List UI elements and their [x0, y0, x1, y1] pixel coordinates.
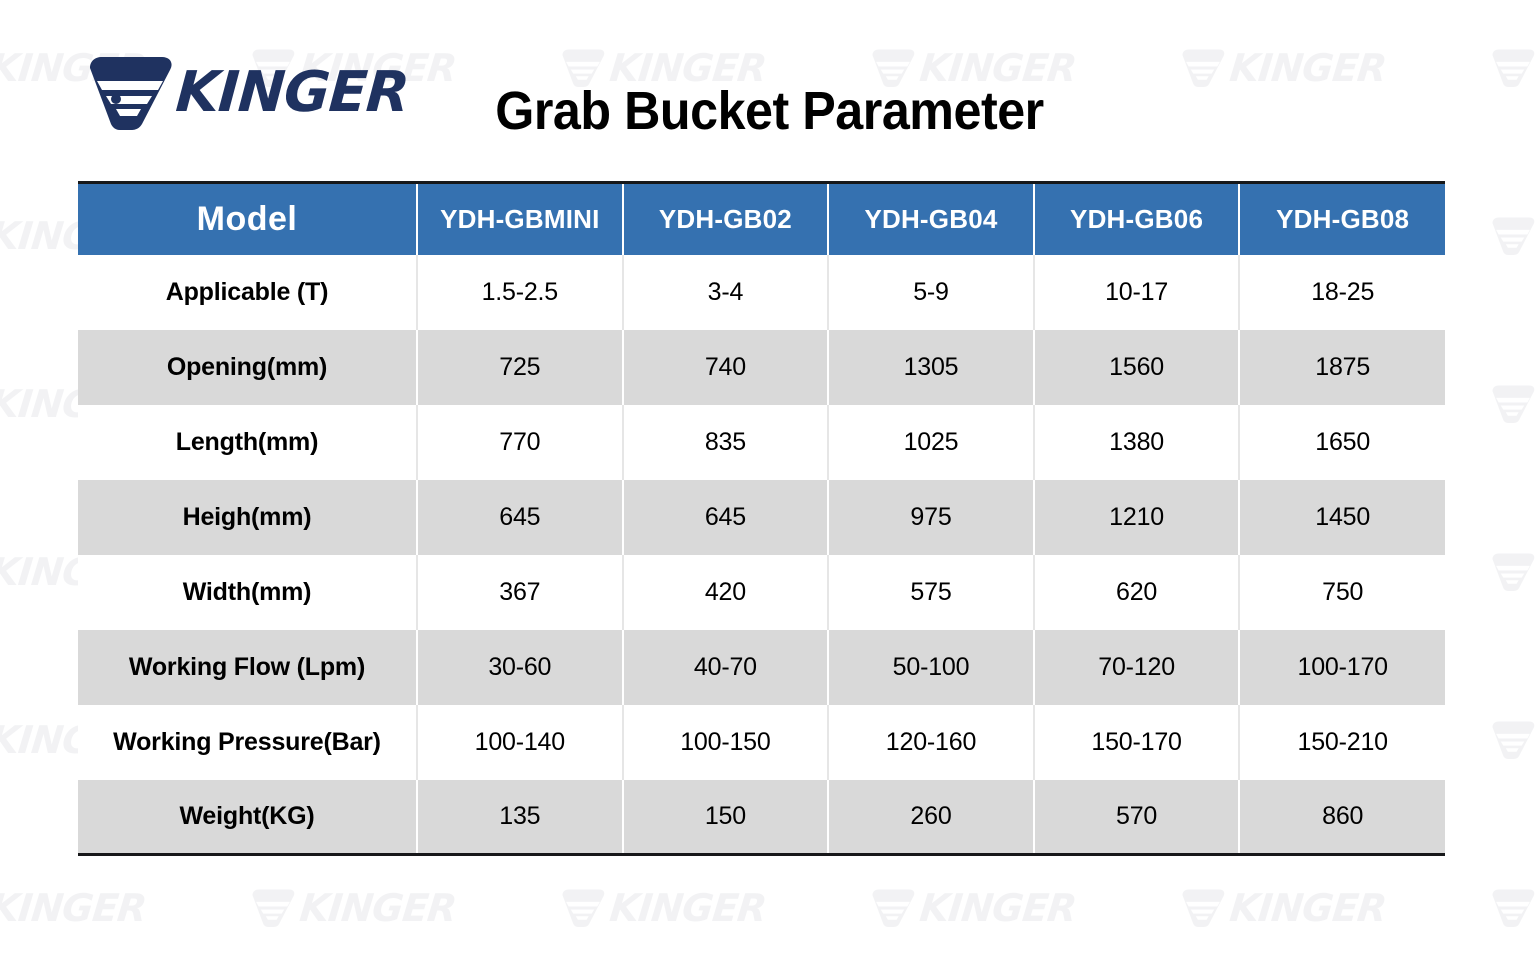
cell-value: 100-150: [623, 705, 829, 780]
cell-value: 835: [623, 405, 829, 480]
table-row: Opening(mm)725740130515601875: [78, 330, 1445, 405]
cell-value: 620: [1034, 555, 1240, 630]
cell-value: 860: [1239, 780, 1445, 855]
table-row: Length(mm)770835102513801650: [78, 405, 1445, 480]
column-header-model-5: YDH-GB08: [1239, 183, 1445, 255]
cell-value: 645: [417, 480, 623, 555]
table-header-row: Model YDH-GBMINI YDH-GB02 YDH-GB04 YDH-G…: [78, 183, 1445, 255]
table-row: Heigh(mm)64564597512101450: [78, 480, 1445, 555]
cell-value: 570: [1034, 780, 1240, 855]
cell-value: 1380: [1034, 405, 1240, 480]
column-header-model-4: YDH-GB06: [1034, 183, 1240, 255]
cell-value: 1450: [1239, 480, 1445, 555]
row-label: Length(mm): [78, 405, 417, 480]
row-label: Heigh(mm): [78, 480, 417, 555]
table-row: Width(mm)367420575620750: [78, 555, 1445, 630]
cell-value: 70-120: [1034, 630, 1240, 705]
cell-value: 575: [828, 555, 1034, 630]
cell-value: 1025: [828, 405, 1034, 480]
cell-value: 5-9: [828, 255, 1034, 330]
cell-value: 135: [417, 780, 623, 855]
table-body: Applicable (T)1.5-2.53-45-910-1718-25Ope…: [78, 255, 1445, 855]
column-header-model-3: YDH-GB04: [828, 183, 1034, 255]
cell-value: 30-60: [417, 630, 623, 705]
row-label: Opening(mm): [78, 330, 417, 405]
cell-value: 100-140: [417, 705, 623, 780]
table-row: Weight(KG)135150260570860: [78, 780, 1445, 855]
cell-value: 975: [828, 480, 1034, 555]
row-label: Working Flow (Lpm): [78, 630, 417, 705]
table-row: Working Flow (Lpm)30-6040-7050-10070-120…: [78, 630, 1445, 705]
row-label: Applicable (T): [78, 255, 417, 330]
page-header: KINGER Grab Bucket Parameter: [0, 0, 1539, 170]
cell-value: 50-100: [828, 630, 1034, 705]
row-label: Width(mm): [78, 555, 417, 630]
table-head: Model YDH-GBMINI YDH-GB02 YDH-GB04 YDH-G…: [78, 183, 1445, 255]
cell-value: 367: [417, 555, 623, 630]
table-row: Working Pressure(Bar)100-140100-150120-1…: [78, 705, 1445, 780]
document-page: KINGER Grab Bucket Parameter Model YDH-G…: [0, 0, 1539, 955]
column-header-model-1: YDH-GBMINI: [417, 183, 623, 255]
cell-value: 150-170: [1034, 705, 1240, 780]
cell-value: 100-170: [1239, 630, 1445, 705]
cell-value: 1560: [1034, 330, 1240, 405]
row-label: Weight(KG): [78, 780, 417, 855]
cell-value: 770: [417, 405, 623, 480]
cell-value: 120-160: [828, 705, 1034, 780]
parameter-table-container: Model YDH-GBMINI YDH-GB02 YDH-GB04 YDH-G…: [78, 181, 1445, 856]
cell-value: 1650: [1239, 405, 1445, 480]
cell-value: 18-25: [1239, 255, 1445, 330]
cell-value: 1.5-2.5: [417, 255, 623, 330]
column-header-model: Model: [78, 183, 417, 255]
page-title: Grab Bucket Parameter: [54, 84, 1485, 138]
cell-value: 150-210: [1239, 705, 1445, 780]
cell-value: 740: [623, 330, 829, 405]
cell-value: 750: [1239, 555, 1445, 630]
cell-value: 260: [828, 780, 1034, 855]
cell-value: 10-17: [1034, 255, 1240, 330]
cell-value: 1210: [1034, 480, 1240, 555]
cell-value: 420: [623, 555, 829, 630]
cell-value: 150: [623, 780, 829, 855]
cell-value: 3-4: [623, 255, 829, 330]
cell-value: 1305: [828, 330, 1034, 405]
cell-value: 40-70: [623, 630, 829, 705]
cell-value: 725: [417, 330, 623, 405]
table-row: Applicable (T)1.5-2.53-45-910-1718-25: [78, 255, 1445, 330]
row-label: Working Pressure(Bar): [78, 705, 417, 780]
cell-value: 1875: [1239, 330, 1445, 405]
grab-bucket-parameter-table: Model YDH-GBMINI YDH-GB02 YDH-GB04 YDH-G…: [78, 181, 1445, 856]
cell-value: 645: [623, 480, 829, 555]
column-header-model-2: YDH-GB02: [623, 183, 829, 255]
